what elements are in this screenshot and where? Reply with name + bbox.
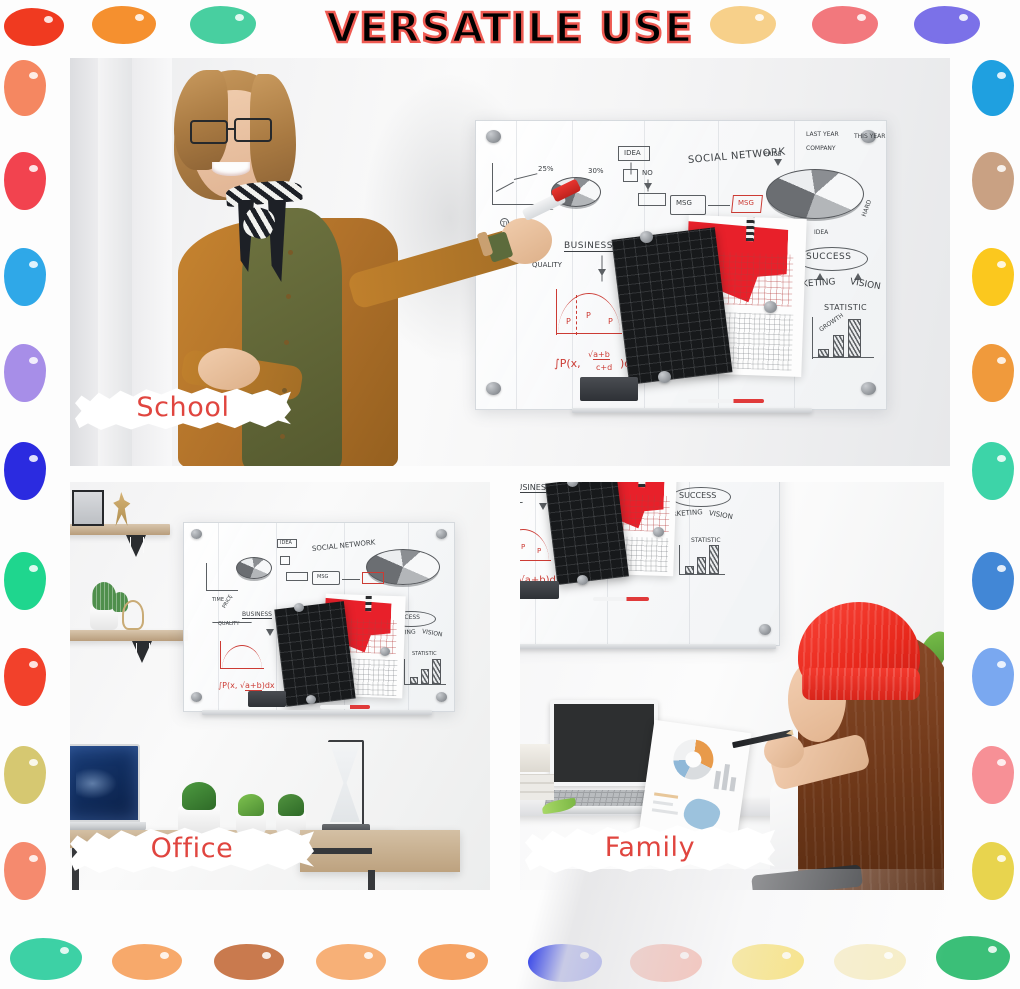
sketch-label-success: SUCCESS	[679, 491, 716, 500]
doc-bar	[729, 777, 736, 792]
beanie-cuff	[802, 668, 920, 700]
splotch-left-7	[4, 648, 46, 706]
picture-frame	[72, 490, 104, 526]
sketch-node	[280, 556, 290, 565]
doc-bar	[721, 764, 730, 790]
succulent-plant	[238, 794, 264, 816]
sketch-label-price2: PRICE	[764, 151, 782, 158]
board-eraser	[520, 581, 559, 599]
sketch-axis	[556, 289, 557, 335]
splotch-bottom-3	[214, 944, 284, 980]
sketch-bar	[421, 669, 429, 684]
shirt-button	[280, 434, 285, 439]
glasses-left-lens	[190, 120, 228, 144]
sketch-label-pct2: 30%	[588, 167, 604, 175]
shirt-button	[288, 250, 293, 255]
smile	[212, 162, 250, 176]
sketch-bar	[709, 545, 719, 574]
splotch-bottom-6	[528, 944, 602, 982]
sketch-axis	[679, 545, 680, 575]
panel-label-family: Family	[605, 832, 695, 863]
board-pen-tray	[202, 710, 432, 715]
splotch-bottom-7	[630, 944, 702, 982]
sketch-axis	[812, 357, 874, 358]
splotch-left-4	[4, 344, 46, 402]
sketch-label-thisyear: THIS YEAR	[854, 133, 885, 140]
sketch-node	[286, 572, 308, 581]
sketch-axis	[220, 641, 221, 669]
doc-donut-chart	[671, 737, 716, 782]
shelf-bracket	[126, 535, 146, 557]
splotch-bottom-9	[834, 944, 906, 980]
sketch-msg-box	[670, 195, 706, 215]
desk-books	[520, 774, 554, 800]
splotch-left-8	[4, 746, 46, 804]
blueprint-poster	[274, 601, 355, 707]
glass-whiteboard[interactable]: MSG QUALITY PRICE BUSINESS P P P ∫P(x, √…	[520, 482, 780, 646]
poster-canvas: VERSATILE USE	[0, 0, 1020, 989]
label-banner-school: School	[75, 383, 291, 431]
sketch-label-pct: 25%	[538, 165, 554, 173]
sketch-label-business: BUSINESS	[564, 241, 613, 252]
doc-text-line	[654, 792, 678, 798]
sketch-formula-integral: ∫P(x,	[554, 357, 581, 370]
sketch-formula-integral: ∫P(x, √a+b)dx	[218, 681, 275, 690]
splotch-left-6	[4, 552, 46, 610]
sketch-bar	[833, 335, 844, 357]
sketch-node	[638, 193, 666, 206]
splotch-right-2	[972, 152, 1014, 210]
board-magnet	[436, 529, 447, 539]
blueprint-poster	[545, 482, 629, 585]
board-marker-tray	[320, 705, 370, 709]
panel-label-school: School	[136, 392, 229, 423]
sketch-label-idea2: IDEA	[814, 229, 828, 236]
splotch-right-6	[972, 552, 1014, 610]
sketch-axis	[206, 563, 207, 591]
poster-magnet	[380, 647, 390, 656]
sketch-formula-denom: c+d	[596, 363, 612, 372]
label-banner-family: Family	[525, 820, 775, 874]
splotch-left-1	[4, 60, 46, 116]
splotch-bottom-2	[112, 944, 182, 980]
sketch-label-vision: VISION	[849, 277, 881, 292]
glasses-right-lens	[234, 118, 272, 142]
glass-whiteboard[interactable]: SOCIAL NETWORK IDEA MSG QUALITY TIME PRI…	[183, 522, 455, 712]
doc-text-line	[653, 800, 673, 806]
desk-box	[520, 744, 550, 772]
sketch-arrow-down	[539, 503, 547, 510]
sketch-msg-box-2	[362, 572, 384, 584]
board-magnet	[759, 624, 771, 635]
succulent-plant	[278, 794, 304, 816]
sketch-axis	[404, 659, 405, 685]
sketch-label-idea: IDEA	[624, 149, 641, 157]
board-magnet	[191, 692, 202, 702]
doc-text-line	[652, 808, 678, 815]
sketch-bar	[410, 677, 418, 684]
glasses-bridge	[227, 128, 236, 130]
poster-magnet	[640, 231, 653, 243]
sketch-bar	[432, 659, 441, 684]
sketch-axis	[492, 163, 493, 205]
sketch-bar	[685, 566, 694, 574]
splotch-left-3	[4, 248, 46, 306]
splotch-bottom-4	[316, 944, 386, 980]
sketch-label-msg2: MSG	[738, 199, 754, 207]
sketch-label-vision: VISION	[421, 628, 443, 638]
poster-magnet	[294, 603, 304, 612]
board-magnet	[486, 382, 501, 395]
sketch-label-growth: GROWTH	[818, 312, 845, 333]
desk-leg	[368, 870, 375, 890]
poster-magnet	[577, 575, 588, 585]
sketch-label-vision: VISION	[708, 509, 733, 521]
splotch-bottom-8	[732, 944, 804, 980]
sketch-bar	[818, 349, 829, 357]
board-eraser	[580, 377, 638, 401]
splotch-right-8	[972, 746, 1014, 804]
sketch-tick	[576, 295, 614, 335]
sketch-bar	[848, 319, 861, 357]
shelf-bracket	[132, 641, 152, 663]
doc-bar	[714, 771, 721, 790]
sketch-label-success: SUCCESS	[806, 252, 851, 262]
board-magnet	[191, 529, 202, 539]
board-magnet	[436, 692, 447, 702]
sketch-label-idea: IDEA	[280, 540, 292, 546]
sketch-label-company: COMPANY	[806, 145, 836, 152]
sketch-label-statistic: STATISTIC	[691, 537, 721, 544]
board-marker-tray	[688, 399, 764, 403]
sketch-arrow-down	[644, 183, 652, 190]
label-banner-office: Office	[70, 822, 314, 874]
laptop-screen	[550, 700, 658, 786]
sketch-arrow-down	[598, 269, 606, 276]
sketch-label-business: BUSINESS	[242, 611, 272, 619]
board-pen-tray	[520, 644, 776, 649]
sketch-pie-large	[766, 169, 864, 219]
splotch-right-4	[972, 344, 1014, 402]
board-marker-tray	[593, 597, 649, 601]
page-title: VERSATILE USE	[0, 4, 1020, 52]
splotch-right-1	[972, 60, 1014, 116]
shirt-button	[286, 294, 291, 299]
splotch-bottom-1	[10, 938, 82, 980]
board-magnet	[486, 130, 501, 143]
sketch-label-no: NO	[642, 169, 653, 177]
splotch-right-5	[972, 442, 1014, 500]
splotch-right-9	[972, 842, 1014, 900]
poster-magnet	[653, 527, 664, 537]
sketch-connector	[708, 205, 730, 206]
sketch-label-quality: QUALITY	[532, 261, 562, 269]
sketch-label-p3: P	[537, 547, 541, 555]
sketch-axis	[812, 317, 813, 359]
splotch-left-5	[4, 442, 46, 500]
wall-shelf-lower	[70, 630, 188, 641]
splotch-left-2	[4, 152, 46, 210]
board-eraser	[248, 691, 286, 707]
shirt-button	[284, 340, 289, 345]
splotch-left-9	[4, 842, 46, 900]
splotch-right-7	[972, 648, 1014, 706]
sketch-connector	[342, 579, 360, 580]
sketch-axis	[206, 590, 238, 591]
succulent-plant	[182, 782, 216, 810]
splotch-bottom-10	[936, 936, 1010, 980]
laptop-screen	[70, 744, 140, 822]
sketch-label-time: TIME	[212, 597, 224, 603]
sketch-bell-curve	[222, 645, 262, 669]
poster-magnet	[764, 301, 777, 313]
glass-whiteboard[interactable]: 25% PRICE QUALITY TIME 30% IDEA NO MSG M…	[475, 120, 887, 410]
sketch-plot	[514, 173, 538, 180]
sketch-axis	[679, 574, 725, 575]
sketch-arrow-down	[774, 159, 782, 166]
sketch-node	[623, 169, 638, 182]
sketch-label-statistic: STATISTIC	[824, 303, 867, 312]
poster-magnet	[658, 371, 671, 383]
splotch-bottom-5	[418, 944, 488, 980]
sketch-arrow-down	[266, 629, 274, 636]
sketch-label-p2: P	[521, 543, 525, 551]
board-magnet	[861, 382, 876, 395]
board-pen-tray	[572, 408, 812, 413]
blueprint-poster	[611, 227, 732, 385]
sketch-label-hard: HARD	[861, 199, 874, 218]
panel-label-office: Office	[151, 833, 234, 864]
sketch-bar	[697, 557, 706, 574]
sketch-label-statistic: STATISTIC	[412, 651, 437, 657]
sketch-label-p1: P	[566, 317, 571, 326]
sketch-pie-small	[236, 557, 272, 579]
poster-magnet	[306, 695, 316, 704]
poster-chimney	[746, 215, 755, 241]
sketch-axis	[404, 684, 446, 685]
sketch-formula-fraction: √a+b	[588, 351, 610, 360]
sketch-plot	[496, 182, 514, 192]
splotch-right-3	[972, 248, 1014, 306]
sketch-label-msg: MSG	[317, 574, 328, 580]
sketch-label-lastyear: LAST YEAR	[806, 131, 839, 138]
decor-wire-sculpture	[122, 600, 144, 630]
